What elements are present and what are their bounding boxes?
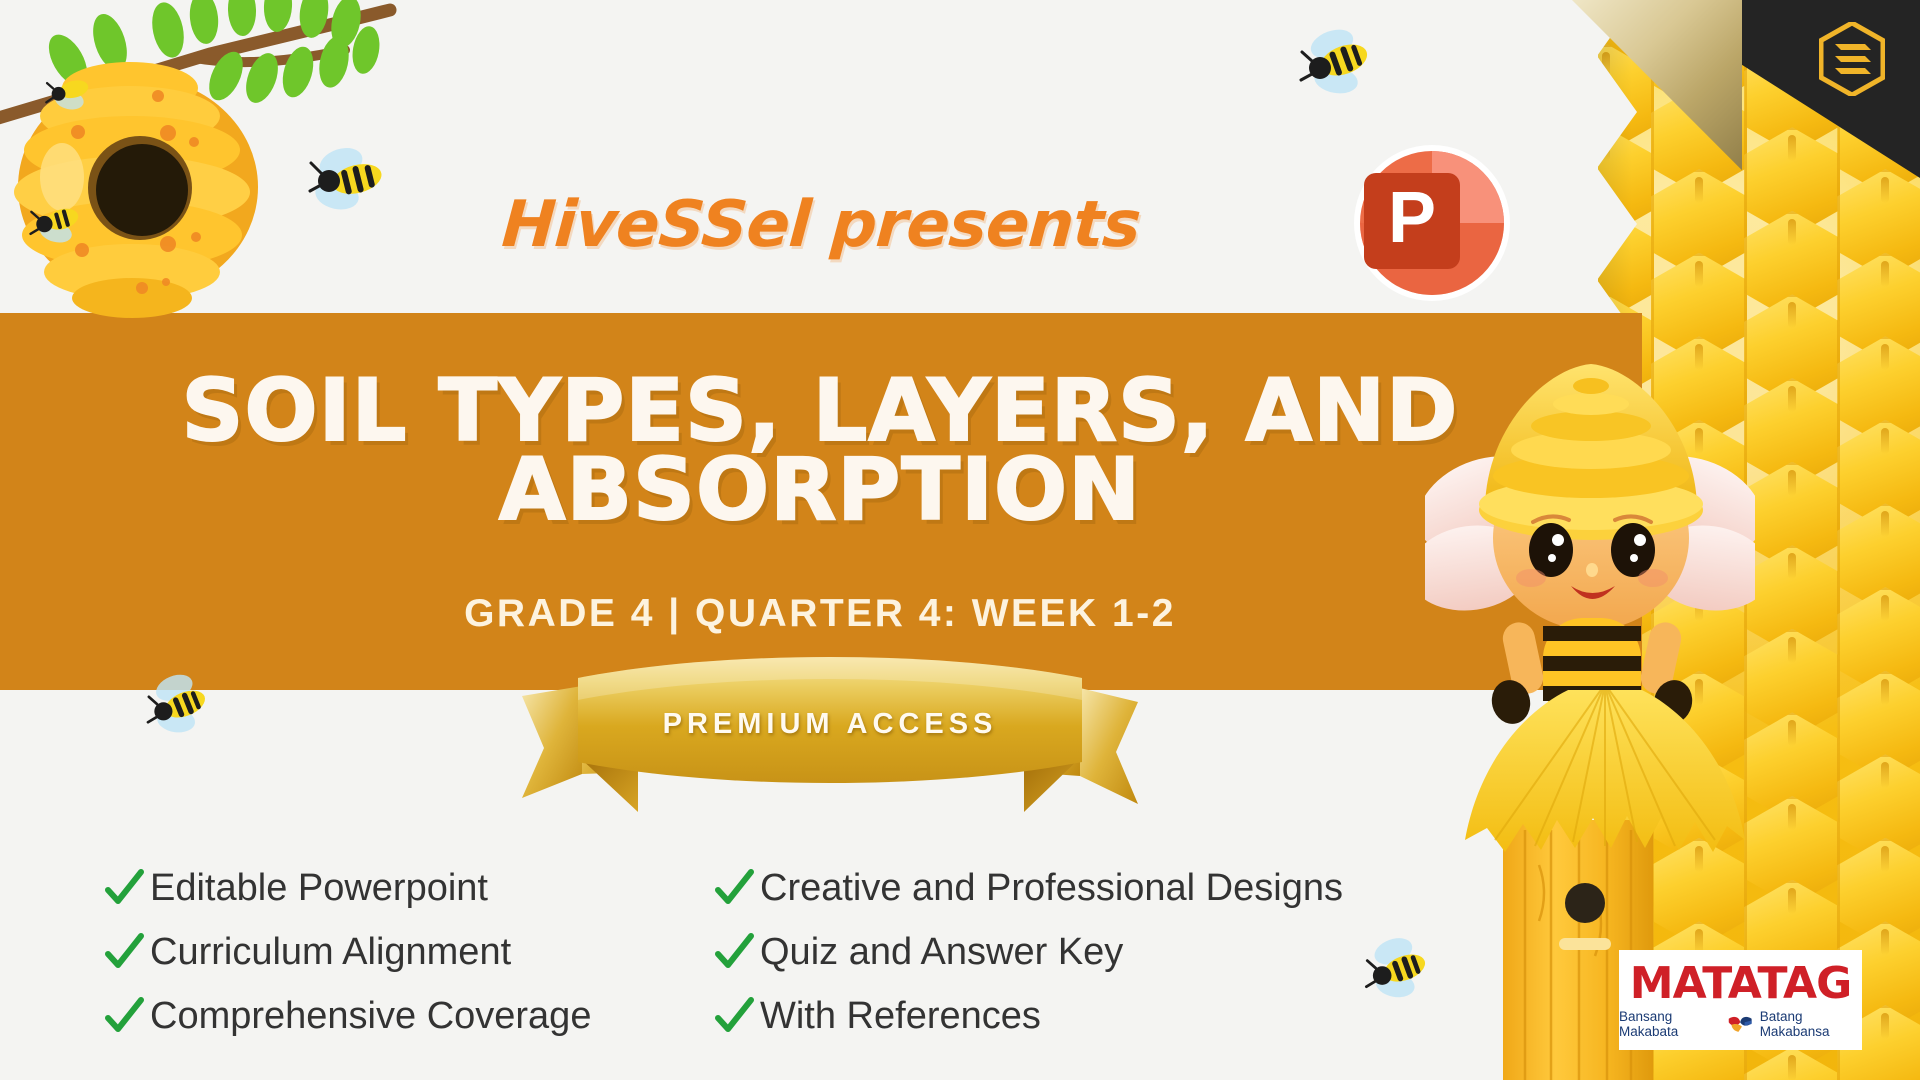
list-item: Editable Powerpoint: [104, 856, 704, 920]
poster-canvas: P HiveSSel presents SOIL TYPES, LAYERS, …: [0, 0, 1920, 1080]
ribbon-label: PREMIUM ACCESS: [520, 708, 1140, 741]
list-item: Creative and Professional Designs: [714, 856, 1474, 920]
feature-column-right: Creative and Professional Designs Quiz a…: [714, 856, 1474, 1048]
check-icon: [104, 996, 144, 1036]
list-item: Comprehensive Coverage: [104, 984, 704, 1048]
check-icon: [714, 868, 754, 908]
feature-label: With References: [760, 995, 1041, 1038]
page-title: SOIL TYPES, LAYERS, AND ABSORPTION: [60, 372, 1580, 530]
feature-label: Curriculum Alignment: [150, 931, 511, 974]
bee-icon-1: [307, 145, 393, 215]
premium-ribbon: PREMIUM ACCESS: [520, 652, 1140, 832]
feature-column-left: Editable Powerpoint Curriculum Alignment…: [104, 856, 704, 1048]
page-subtitle: GRADE 4 | QUARTER 4: WEEK 1-2: [60, 592, 1580, 636]
matatag-wordmark: MATATAG: [1630, 962, 1851, 1006]
matatag-tagline-left: Bansang Makabata: [1619, 1009, 1721, 1039]
bee-icon-2: [1292, 28, 1378, 98]
check-icon: [714, 932, 754, 972]
list-item: Quiz and Answer Key: [714, 920, 1474, 984]
presents-heading: HiveSSel presents: [0, 188, 1645, 262]
bee-icon-3: [138, 672, 216, 738]
feature-label: Quiz and Answer Key: [760, 931, 1123, 974]
feature-label: Editable Powerpoint: [150, 867, 488, 910]
bee-icon-6: [34, 62, 100, 118]
clasped-hands-icon: [1727, 1013, 1753, 1035]
hive-hex-logo-icon: [1819, 22, 1885, 96]
feature-label: Comprehensive Coverage: [150, 995, 591, 1038]
matatag-logo: MATATAG Bansang Makabata Batang Makabans…: [1619, 950, 1862, 1050]
bee-icon-5: [20, 190, 90, 250]
check-icon: [714, 996, 754, 1036]
check-icon: [104, 868, 144, 908]
list-item: With References: [714, 984, 1474, 1048]
check-icon: [104, 932, 144, 972]
list-item: Curriculum Alignment: [104, 920, 704, 984]
feature-label: Creative and Professional Designs: [760, 867, 1343, 910]
matatag-tagline-right: Batang Makabansa: [1760, 1009, 1862, 1039]
matatag-tagline: Bansang Makabata Batang Makabansa: [1619, 1009, 1862, 1039]
